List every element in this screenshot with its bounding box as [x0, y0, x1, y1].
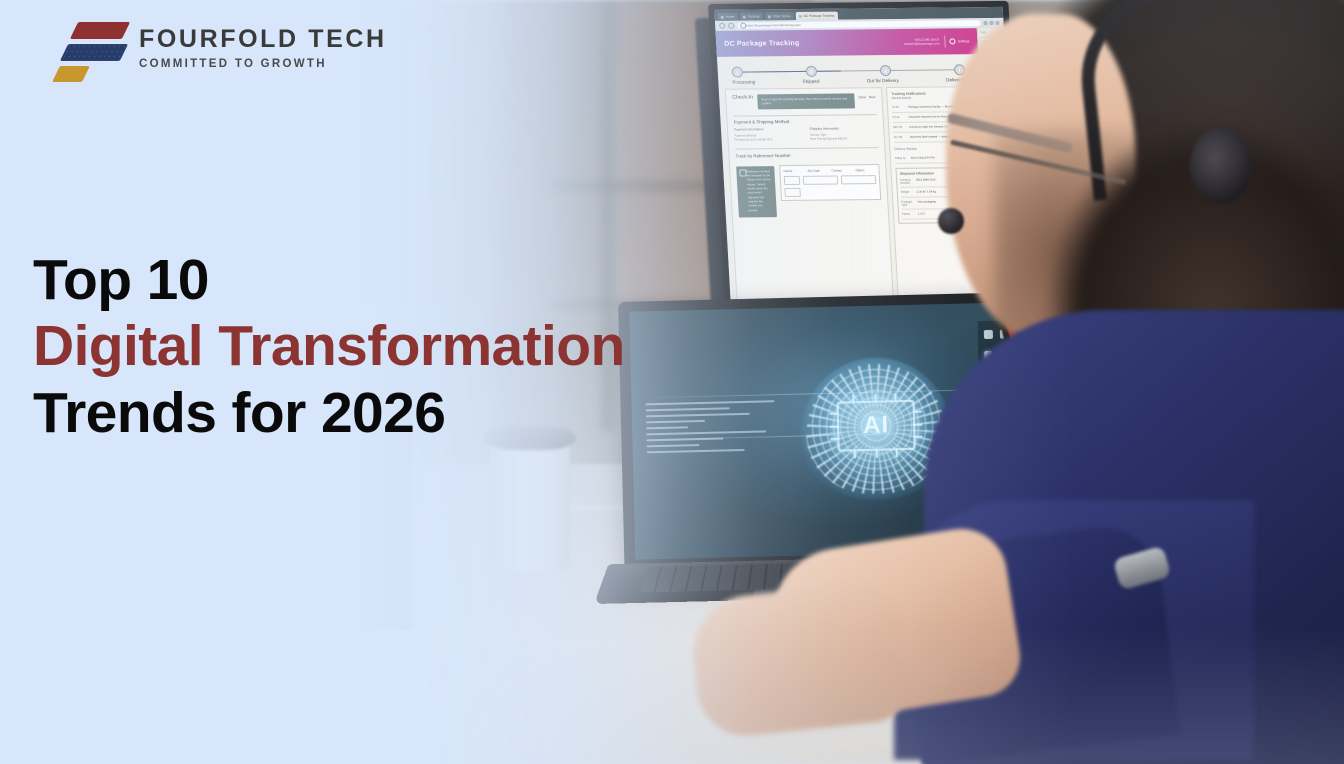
- step-node[interactable]: [806, 66, 818, 77]
- cup-body: [490, 440, 570, 572]
- step-label-shipped: Shipped: [802, 79, 819, 84]
- brand-name: FOURFOLD TECH: [139, 27, 387, 52]
- logo-mark-icon: [52, 18, 126, 80]
- tab-favicon: [767, 15, 770, 18]
- code-editor-lines: [645, 400, 786, 457]
- logo-bar-navy: [60, 44, 128, 61]
- step-node[interactable]: [732, 67, 744, 78]
- headset-earcup: [1190, 128, 1252, 204]
- payment-value: Prepaid account ending 4412: [735, 137, 803, 142]
- col-contact: Contact: [831, 168, 851, 172]
- zip-input[interactable]: [803, 175, 839, 184]
- browser-tab[interactable]: Home: [718, 13, 738, 21]
- reference-info-box: Reference numbers are assigned by the sh…: [736, 166, 777, 217]
- tab-favicon: [721, 15, 724, 18]
- step-label-processing: Processing: [732, 79, 755, 84]
- person-hand-left: [687, 579, 910, 740]
- back-arrow-icon[interactable]: [719, 23, 725, 29]
- headline: Top 10 Digital Transformation Trends for…: [33, 250, 625, 449]
- brand-logo[interactable]: FOURFOLD TECH COMMITTED TO GROWTH: [52, 18, 387, 80]
- headline-line-2: Digital Transformation: [33, 316, 625, 376]
- checkin-heading: Check-In: [732, 94, 753, 100]
- reference-info-text: Reference numbers are assigned by the sh…: [746, 170, 770, 212]
- col-carrier: Carrier: [783, 169, 803, 173]
- browser-tab-label: Order Status: [772, 14, 790, 18]
- logo-text: FOURFOLD TECH COMMITTED TO GROWTH: [139, 27, 387, 71]
- url-text: https://dcpackage.internal/tracking.aspx: [746, 23, 801, 28]
- logo-bar-navy-texture: [60, 44, 128, 61]
- info-icon: [739, 169, 746, 176]
- search-button[interactable]: [784, 188, 801, 197]
- person: [854, 0, 1344, 764]
- tab-favicon: [742, 15, 745, 18]
- logo-bar-gold: [52, 66, 90, 82]
- payment-heading: Payment Information: [734, 127, 802, 132]
- headline-line-1: Top 10: [33, 250, 625, 310]
- headset-microphone: [938, 208, 964, 234]
- browser-tab[interactable]: Tracking: [739, 12, 763, 20]
- browser-tab[interactable]: Order Status: [764, 12, 794, 20]
- reload-icon[interactable]: [728, 23, 734, 29]
- checkin-notice: Scan or type the tracking barcode, then …: [757, 93, 855, 109]
- browser-tab-label: Tracking: [747, 14, 759, 18]
- col-zip: Zip Code: [807, 168, 827, 172]
- browser-tab-active[interactable]: DC Package Tracking: [795, 12, 837, 20]
- payment-column: Payment Information Payment Method Prepa…: [734, 127, 802, 142]
- banner-root: Home Tracking Order Status DC Package Tr…: [0, 0, 1344, 764]
- browser-tab-label: Home: [726, 15, 735, 19]
- brand-tagline: COMMITTED TO GROWTH: [139, 59, 387, 71]
- headline-line-3: Trends for 2026: [33, 383, 625, 443]
- logo-bar-red: [70, 22, 130, 39]
- app-title: DC Package Tracking: [724, 40, 799, 48]
- carrier-input[interactable]: [784, 176, 801, 185]
- browser-tab-label: DC Package Tracking: [803, 14, 834, 18]
- tab-favicon: [798, 15, 801, 18]
